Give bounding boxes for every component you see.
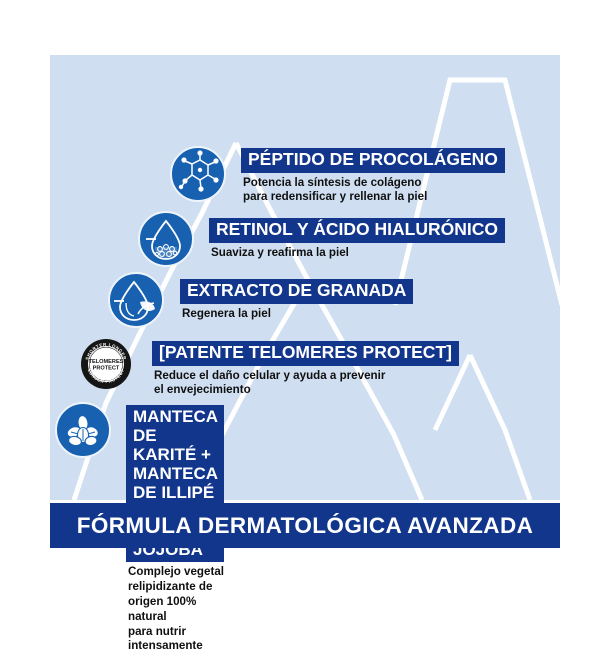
ingredient-text-block: EXTRACTO DE GRANADA Regenera la piel [180, 279, 413, 321]
telomeres-protect-badge-glyph: SHORTER LONGER LONGER PROTECT TELOMERES … [80, 338, 132, 390]
badge-center-line2: PROTECT [93, 365, 120, 371]
molecule-glyph [170, 146, 226, 202]
nuts-seeds-glyph [55, 402, 111, 458]
nuts-seeds-icon [55, 402, 111, 458]
ingredient-title: PÉPTIDO DE PROCOLÁGENO [241, 148, 505, 173]
badge-center-line1: TELOMERES [89, 359, 124, 365]
ingredient-description: Regenera la piel [180, 307, 413, 322]
ingredient-description: Reduce el daño celular y ayuda a preveni… [152, 369, 459, 399]
telomeres-protect-badge-icon: SHORTER LONGER LONGER PROTECT TELOMERES … [80, 338, 132, 390]
ingredient-text-block: [PATENTE TELOMERES PROTECT] Reduce el da… [152, 341, 459, 398]
ingredient-description: Complejo vegetal relipidizante de origen… [126, 565, 224, 654]
banner-text: FÓRMULA DERMATOLÓGICA AVANZADA [77, 513, 534, 539]
infographic-poster: PÉPTIDO DE PROCOLÁGENO Potencia la sínte… [0, 0, 600, 600]
ingredient-description: Potencia la síntesis de colágeno para re… [241, 176, 505, 206]
ingredient-title: [PATENTE TELOMERES PROTECT] [152, 341, 459, 366]
ingredient-text-block: RETINOL Y ÁCIDO HIALURÓNICO Suaviza y re… [209, 218, 505, 260]
water-drop-bubbles-glyph [138, 211, 194, 267]
water-drop-leaf-icon [108, 272, 164, 328]
ingredient-title: RETINOL Y ÁCIDO HIALURÓNICO [209, 218, 505, 243]
molecule-icon [170, 146, 226, 202]
water-drop-leaf-glyph [108, 272, 164, 328]
ingredient-title: EXTRACTO DE GRANADA [180, 279, 413, 304]
water-drop-bubbles-icon [138, 211, 194, 267]
bottom-banner: FÓRMULA DERMATOLÓGICA AVANZADA [50, 503, 560, 548]
ingredient-description: Suaviza y reafirma la piel [209, 246, 505, 261]
ingredient-text-block: PÉPTIDO DE PROCOLÁGENO Potencia la sínte… [241, 148, 505, 205]
